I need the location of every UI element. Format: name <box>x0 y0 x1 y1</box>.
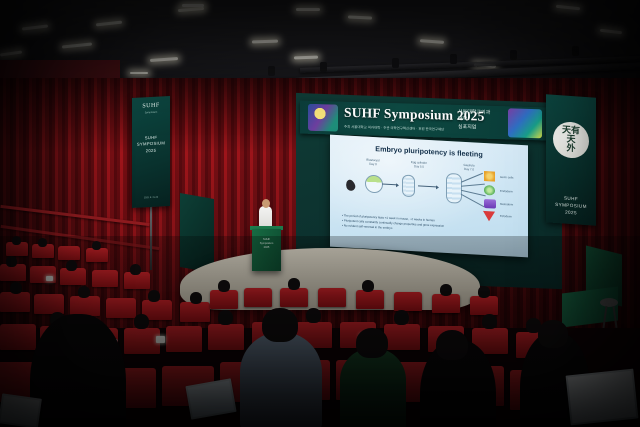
laptop-glow <box>156 336 165 343</box>
attendee-head <box>306 308 321 323</box>
laptop <box>185 378 236 419</box>
attendee-head <box>394 310 409 325</box>
foreground-attendee-head <box>262 308 298 342</box>
auditorium-seat <box>356 290 384 309</box>
endoderm-icon <box>484 185 495 196</box>
mesoderm-icon <box>484 199 496 209</box>
banner-footer-line: 주최 서울대학교 의과대학 · 주관 의학연구혁신센터 · 후원 한국연구재단 <box>344 124 444 132</box>
auditorium-seat <box>280 288 308 307</box>
foreground-attendee-shirt <box>240 332 322 427</box>
attendee-head <box>66 260 77 271</box>
laptop <box>0 393 42 427</box>
attendee-head <box>134 314 149 329</box>
auditorium-seat <box>244 288 272 307</box>
attendee-head <box>92 241 101 250</box>
attendee-head <box>6 256 17 267</box>
laptop-screen-spreadsheet <box>568 371 636 423</box>
auditorium-seat <box>106 298 136 318</box>
right-banner-label: SUHF SYMPOSIUM 2025 <box>546 193 596 218</box>
attendee-head <box>482 314 497 329</box>
attendee-head <box>38 238 47 247</box>
auditorium-seat <box>0 292 30 312</box>
left-banner-footer: 2025. 8. 21-22 <box>132 196 170 200</box>
auditorium-seat <box>394 292 422 311</box>
attendee-head <box>10 282 22 294</box>
laptop-glow <box>46 276 53 281</box>
lineage-label-germ-cells: Germ cells <box>500 175 513 180</box>
lineage-label-endoderm: Endoderm <box>500 189 513 194</box>
auditorium-seat <box>384 324 420 350</box>
left-banner-main-label: SUHF SYMPOSIUM 2025 <box>132 134 170 155</box>
attendee-head <box>130 264 141 275</box>
attendee-head <box>78 286 90 298</box>
screenshot-root: SUHF Symposium 2025 서울대학교의과대학 심포지엄 주최 서울… <box>0 0 640 427</box>
auditorium-seat <box>124 328 160 354</box>
laptop-screen <box>188 381 235 418</box>
egg-cylinder-icon <box>402 175 415 198</box>
auditorium-seat <box>70 296 100 316</box>
banner-korean-subtitle: 서울대학교의과대학 심포지엄 <box>458 109 494 132</box>
symposium-graphic-icon <box>508 108 542 138</box>
speaker-head <box>262 199 270 208</box>
attendee-head <box>362 280 374 292</box>
suhf-logo-icon <box>308 104 338 132</box>
foreground-attendee-head <box>538 320 568 348</box>
foreground-attendee-head <box>436 330 468 360</box>
auditorium-seat <box>0 324 36 350</box>
attendee-head <box>218 310 233 325</box>
left-banner-subtitle: Symposium <box>132 110 170 115</box>
germ-cells-icon <box>484 171 495 182</box>
auditorium-seat <box>318 288 346 307</box>
gastrula-icon <box>446 173 462 204</box>
auditorium-seat <box>470 296 498 315</box>
auditorium-seat <box>180 302 210 322</box>
auditorium-seat <box>166 326 202 352</box>
attendee-head <box>190 292 202 304</box>
foreground-attendee-shirt <box>340 348 406 427</box>
audience-area <box>0 236 640 427</box>
foreground-attendee-head <box>356 328 388 358</box>
foreground-attendee-silhouette <box>30 314 126 427</box>
laptop <box>566 369 639 426</box>
auditorium-seat <box>210 290 238 309</box>
seal-characters: 天有天 外 <box>558 126 584 155</box>
auditorium-seat <box>58 246 80 260</box>
auditorium-seat <box>86 248 108 262</box>
lineage-label-mesoderm: Mesoderm <box>500 202 513 207</box>
left-standing-banner: SUHF Symposium SUHF SYMPOSIUM 2025 2025.… <box>132 96 170 208</box>
auditorium-seat <box>92 270 118 287</box>
attendee-head <box>440 284 452 296</box>
attendee-head <box>12 236 21 245</box>
attendee-head <box>288 278 300 290</box>
left-banner-title: SUHF <box>132 102 170 110</box>
calligraphy-seal-icon: 天有天 外 <box>553 121 589 160</box>
lineage-label-ectoderm: Ectoderm <box>500 214 512 219</box>
auditorium-seat <box>208 324 244 350</box>
laptop-screen <box>0 396 39 427</box>
blastocyst-icon <box>365 175 383 194</box>
attendee-head <box>218 280 230 292</box>
attendee-head <box>478 286 490 298</box>
right-standing-banner: 天有天 外 SUHF SYMPOSIUM 2025 <box>546 94 596 225</box>
auditorium-seat <box>432 294 460 313</box>
auditorium-seat <box>34 294 64 314</box>
ectoderm-icon <box>483 211 495 222</box>
attendee-head <box>148 290 160 302</box>
